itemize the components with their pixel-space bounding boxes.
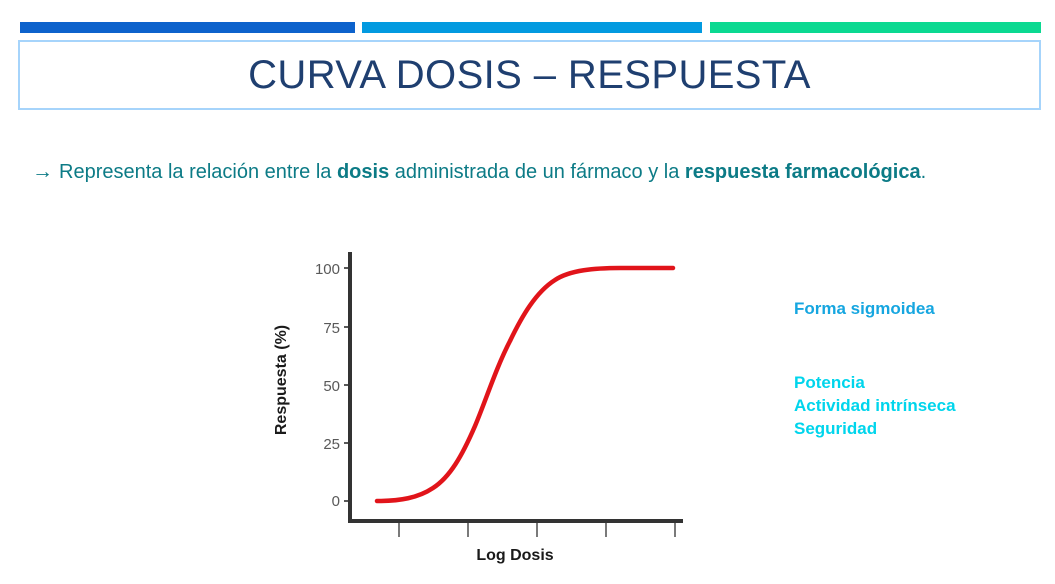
ytick-label-0: 0 (332, 493, 340, 510)
xtick-marks (399, 523, 675, 537)
decorative-top-bars (0, 0, 1055, 40)
annotation-list: Potencia Actividad intrínseca Seguridad (794, 371, 1044, 440)
chart-xlabel: Log Dosis (476, 547, 553, 564)
subtitle-bold-dosis: dosis (337, 161, 389, 183)
dose-response-chart: Respuesta (%) 100 75 50 25 0 Log Do (270, 240, 700, 570)
top-bar-green (710, 22, 1041, 33)
subtitle-bold-respuesta: respuesta farmacológica (685, 161, 921, 183)
subtitle-part-2: administrada de un fármaco y la (389, 161, 685, 183)
chart-ylabel: Respuesta (%) (273, 325, 290, 435)
ytick-label-75: 75 (323, 320, 340, 337)
page-title: CURVA DOSIS – RESPUESTA (248, 55, 811, 95)
subtitle-part-3: . (921, 161, 927, 183)
annotation-forma-sigmoidea: Forma sigmoidea (794, 298, 1044, 320)
top-bar-light-blue (362, 22, 702, 33)
slide-title-box: CURVA DOSIS – RESPUESTA (18, 40, 1041, 110)
arrow-right-icon: → (32, 159, 53, 185)
annotation-item-actividad-intrinseca: Actividad intrínseca (794, 394, 1044, 417)
ytick-label-50: 50 (323, 378, 340, 395)
chart-annotations: Forma sigmoidea Potencia Actividad intrí… (794, 298, 1044, 440)
ytick-label-25: 25 (323, 436, 340, 453)
subtitle-part-1: Representa la relación entre la (59, 161, 337, 183)
subtitle-bullet: →Representa la relación entre la dosis a… (32, 159, 1042, 185)
dose-response-curve (377, 268, 673, 501)
annotation-item-seguridad: Seguridad (794, 417, 1044, 440)
top-bar-dark-blue (20, 22, 355, 33)
annotation-item-potencia: Potencia (794, 371, 1044, 394)
ytick-label-100: 100 (315, 261, 340, 278)
chart-svg: Respuesta (%) 100 75 50 25 0 Log Do (270, 240, 700, 570)
